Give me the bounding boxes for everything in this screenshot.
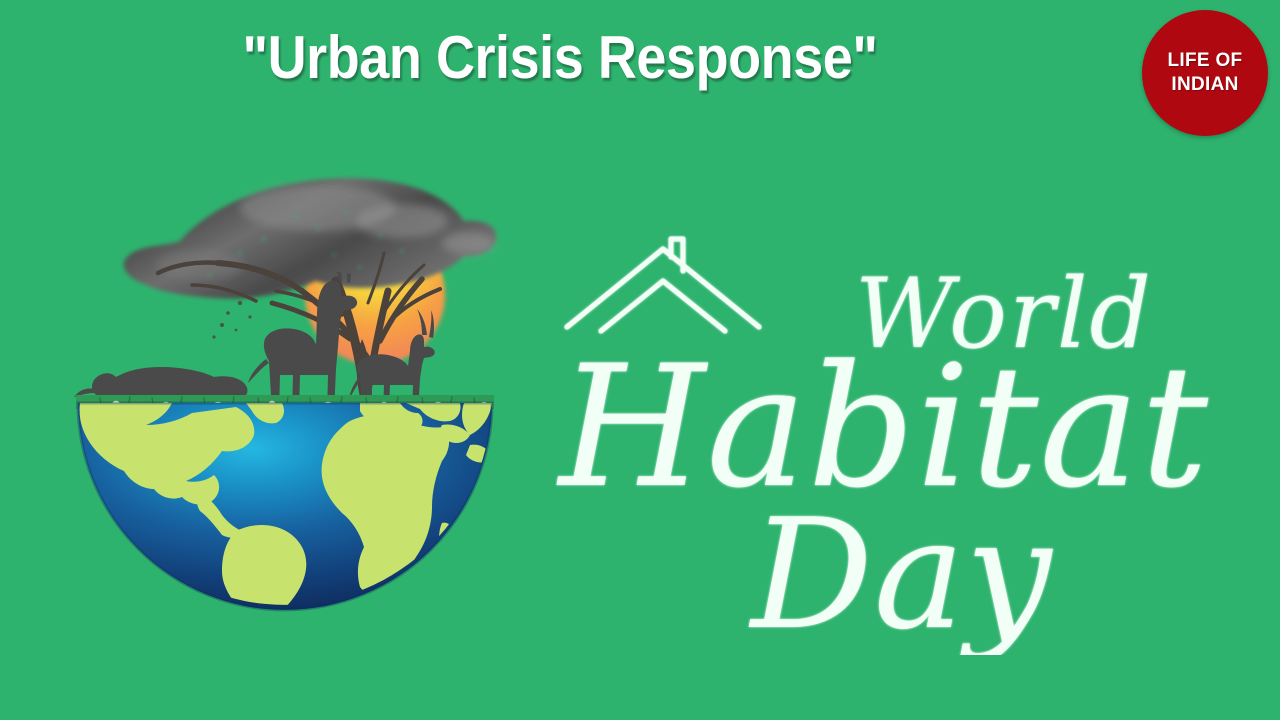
badge-line-2: INDIAN [1171,73,1238,97]
page-title: "Urban Crisis Response" [56,26,1064,89]
falling-leaves [212,301,251,339]
world-habitat-day-lockup: World Habitat Day [555,235,1235,655]
word-day: Day [748,486,1053,655]
badge-line-1: LIFE OF [1168,49,1243,73]
earth-half-globe [78,403,492,681]
house-roof-icon [567,239,759,331]
poster-canvas: "Urban Crisis Response" LIFE OF INDIAN [0,0,1280,720]
life-of-indian-logo[interactable]: LIFE OF INDIAN [1142,10,1268,136]
half-globe-savanna-illustration [50,125,530,685]
